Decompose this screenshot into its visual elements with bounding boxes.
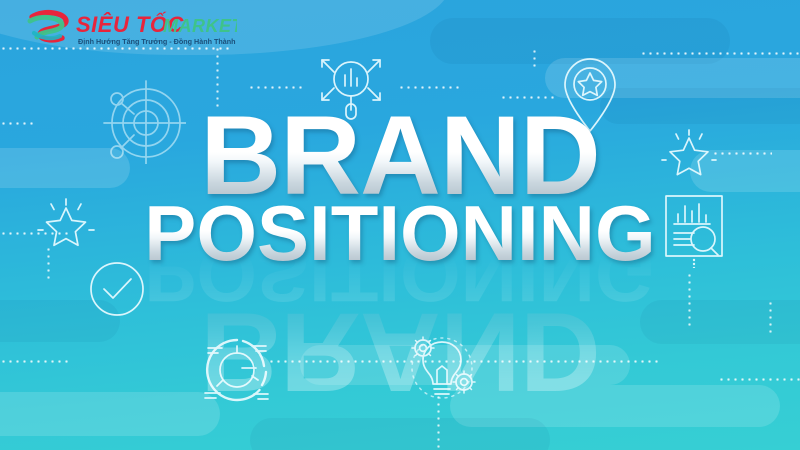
logo-tagline: Định Hướng Tăng Trưởng - Đồng Hành Thành… [78, 37, 237, 46]
poster-canvas: SIÊU TỐC MARKETING Định Hướng Tăng Trưởn… [0, 0, 800, 450]
dotted-rule-bottom-right [718, 378, 800, 381]
bg-blob-9 [640, 300, 800, 344]
headline-line-2: POSITIONING [0, 200, 800, 267]
donut-chart-icon [196, 330, 278, 410]
bg-blob-11 [250, 418, 550, 450]
dotted-vertical-pin [533, 48, 536, 70]
dotted-rule-icon-right [398, 86, 460, 89]
headline: BRAND POSITIONING [0, 108, 800, 267]
dotted-rule-icon-left [248, 86, 306, 89]
dotted-vertical-right [769, 300, 772, 336]
dotted-vertical-report [688, 272, 691, 326]
logo-wordmark-secondary: MARKETING [163, 16, 237, 36]
brand-logo[interactable]: SIÊU TỐC MARKETING Định Hướng Tăng Trưởn… [22, 5, 237, 49]
idea-gears-icon [400, 326, 484, 406]
bg-blob-6 [0, 392, 220, 436]
bg-blob-8 [450, 385, 780, 427]
dotted-rule-donut-left [0, 360, 68, 363]
dotted-rule-top-right [640, 52, 800, 55]
logo-monogram-icon [30, 13, 66, 40]
